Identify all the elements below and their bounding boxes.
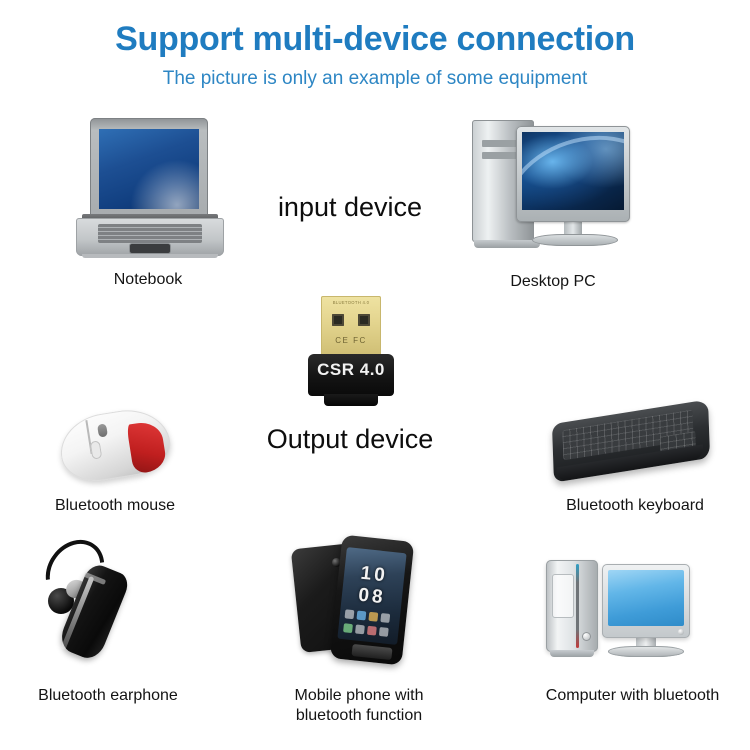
usb-contact-left-icon (332, 314, 344, 326)
caption-computer-with-bluetooth: Computer with bluetooth (525, 686, 740, 706)
usb-contact-right-icon (358, 314, 370, 326)
dongle-top-text: BLUETOOTH 4.0 (321, 296, 381, 309)
phone-app-icon (379, 626, 389, 636)
certification-marks: CE FC (321, 336, 381, 345)
caption-mobile-phone: Mobile phone with bluetooth function (264, 686, 454, 726)
caption-desktop-pc: Desktop PC (483, 272, 623, 292)
dongle-body-icon: CSR 4.0 (308, 354, 394, 396)
phone-app-icon (356, 611, 366, 621)
bt-pc-front-panel-icon (552, 574, 574, 618)
laptop-base-icon (76, 218, 224, 256)
desktop-pc-illustration (470, 112, 630, 260)
page-title: Support multi-device connection (0, 20, 750, 59)
section-label-input-device: input device (230, 192, 470, 223)
dongle-tail-icon (324, 394, 378, 406)
laptop-keyboard-icon (98, 224, 202, 243)
notebook-illustration (76, 118, 224, 260)
usb-connector-icon: BLUETOOTH 4.0 CE FC (321, 296, 381, 356)
caption-bluetooth-mouse: Bluetooth mouse (25, 496, 205, 516)
phone-app-icons (343, 609, 395, 638)
caption-bluetooth-keyboard: Bluetooth keyboard (540, 496, 730, 516)
phone-app-icon (367, 625, 377, 635)
laptop-screen-icon (99, 129, 199, 209)
bt-monitor-stand-icon (608, 646, 684, 657)
dongle-model-text: CSR 4.0 (308, 360, 394, 380)
phone-app-icon (368, 612, 378, 622)
bluetooth-mouse-illustration (60, 408, 170, 484)
bt-monitor-bezel-icon (602, 564, 690, 638)
laptop-touchpad-icon (130, 244, 170, 253)
computer-with-bluetooth-illustration (540, 548, 690, 668)
bt-monitor-screen-icon (608, 570, 684, 626)
monitor-bezel-icon (516, 126, 630, 222)
bt-monitor-power-led-icon (678, 629, 684, 635)
phone-clock-widget: 10 08 (341, 561, 405, 611)
phone-app-icon (345, 609, 355, 619)
monitor-screen-icon (522, 132, 624, 210)
section-label-output-device: Output device (230, 424, 470, 455)
bt-pc-power-button-icon (582, 632, 591, 641)
laptop-lid-icon (90, 118, 208, 222)
bt-pc-tower-icon (546, 560, 598, 652)
bluetooth-earphone-illustration (34, 536, 158, 654)
phone-app-icon (343, 623, 353, 633)
caption-notebook: Notebook (78, 270, 218, 290)
caption-bluetooth-earphone: Bluetooth earphone (18, 686, 198, 706)
phone-app-icon (380, 613, 390, 623)
phone-app-icon (355, 624, 365, 634)
page-subtitle: The picture is only an example of some e… (0, 68, 750, 90)
bluetooth-usb-dongle-illustration: BLUETOOTH 4.0 CE FC CSR 4.0 (308, 296, 394, 408)
phone-screen-icon: 10 08 (337, 547, 406, 645)
bt-pc-tower-foot-icon (550, 650, 594, 657)
pc-tower-foot-icon (474, 240, 540, 248)
bt-pc-accent-stripe-icon (576, 564, 579, 648)
mobile-phone-illustration: 10 08 (296, 536, 412, 664)
laptop-foot-icon (82, 254, 218, 258)
monitor-stand-icon (532, 234, 618, 246)
bluetooth-keyboard-illustration (552, 412, 710, 484)
